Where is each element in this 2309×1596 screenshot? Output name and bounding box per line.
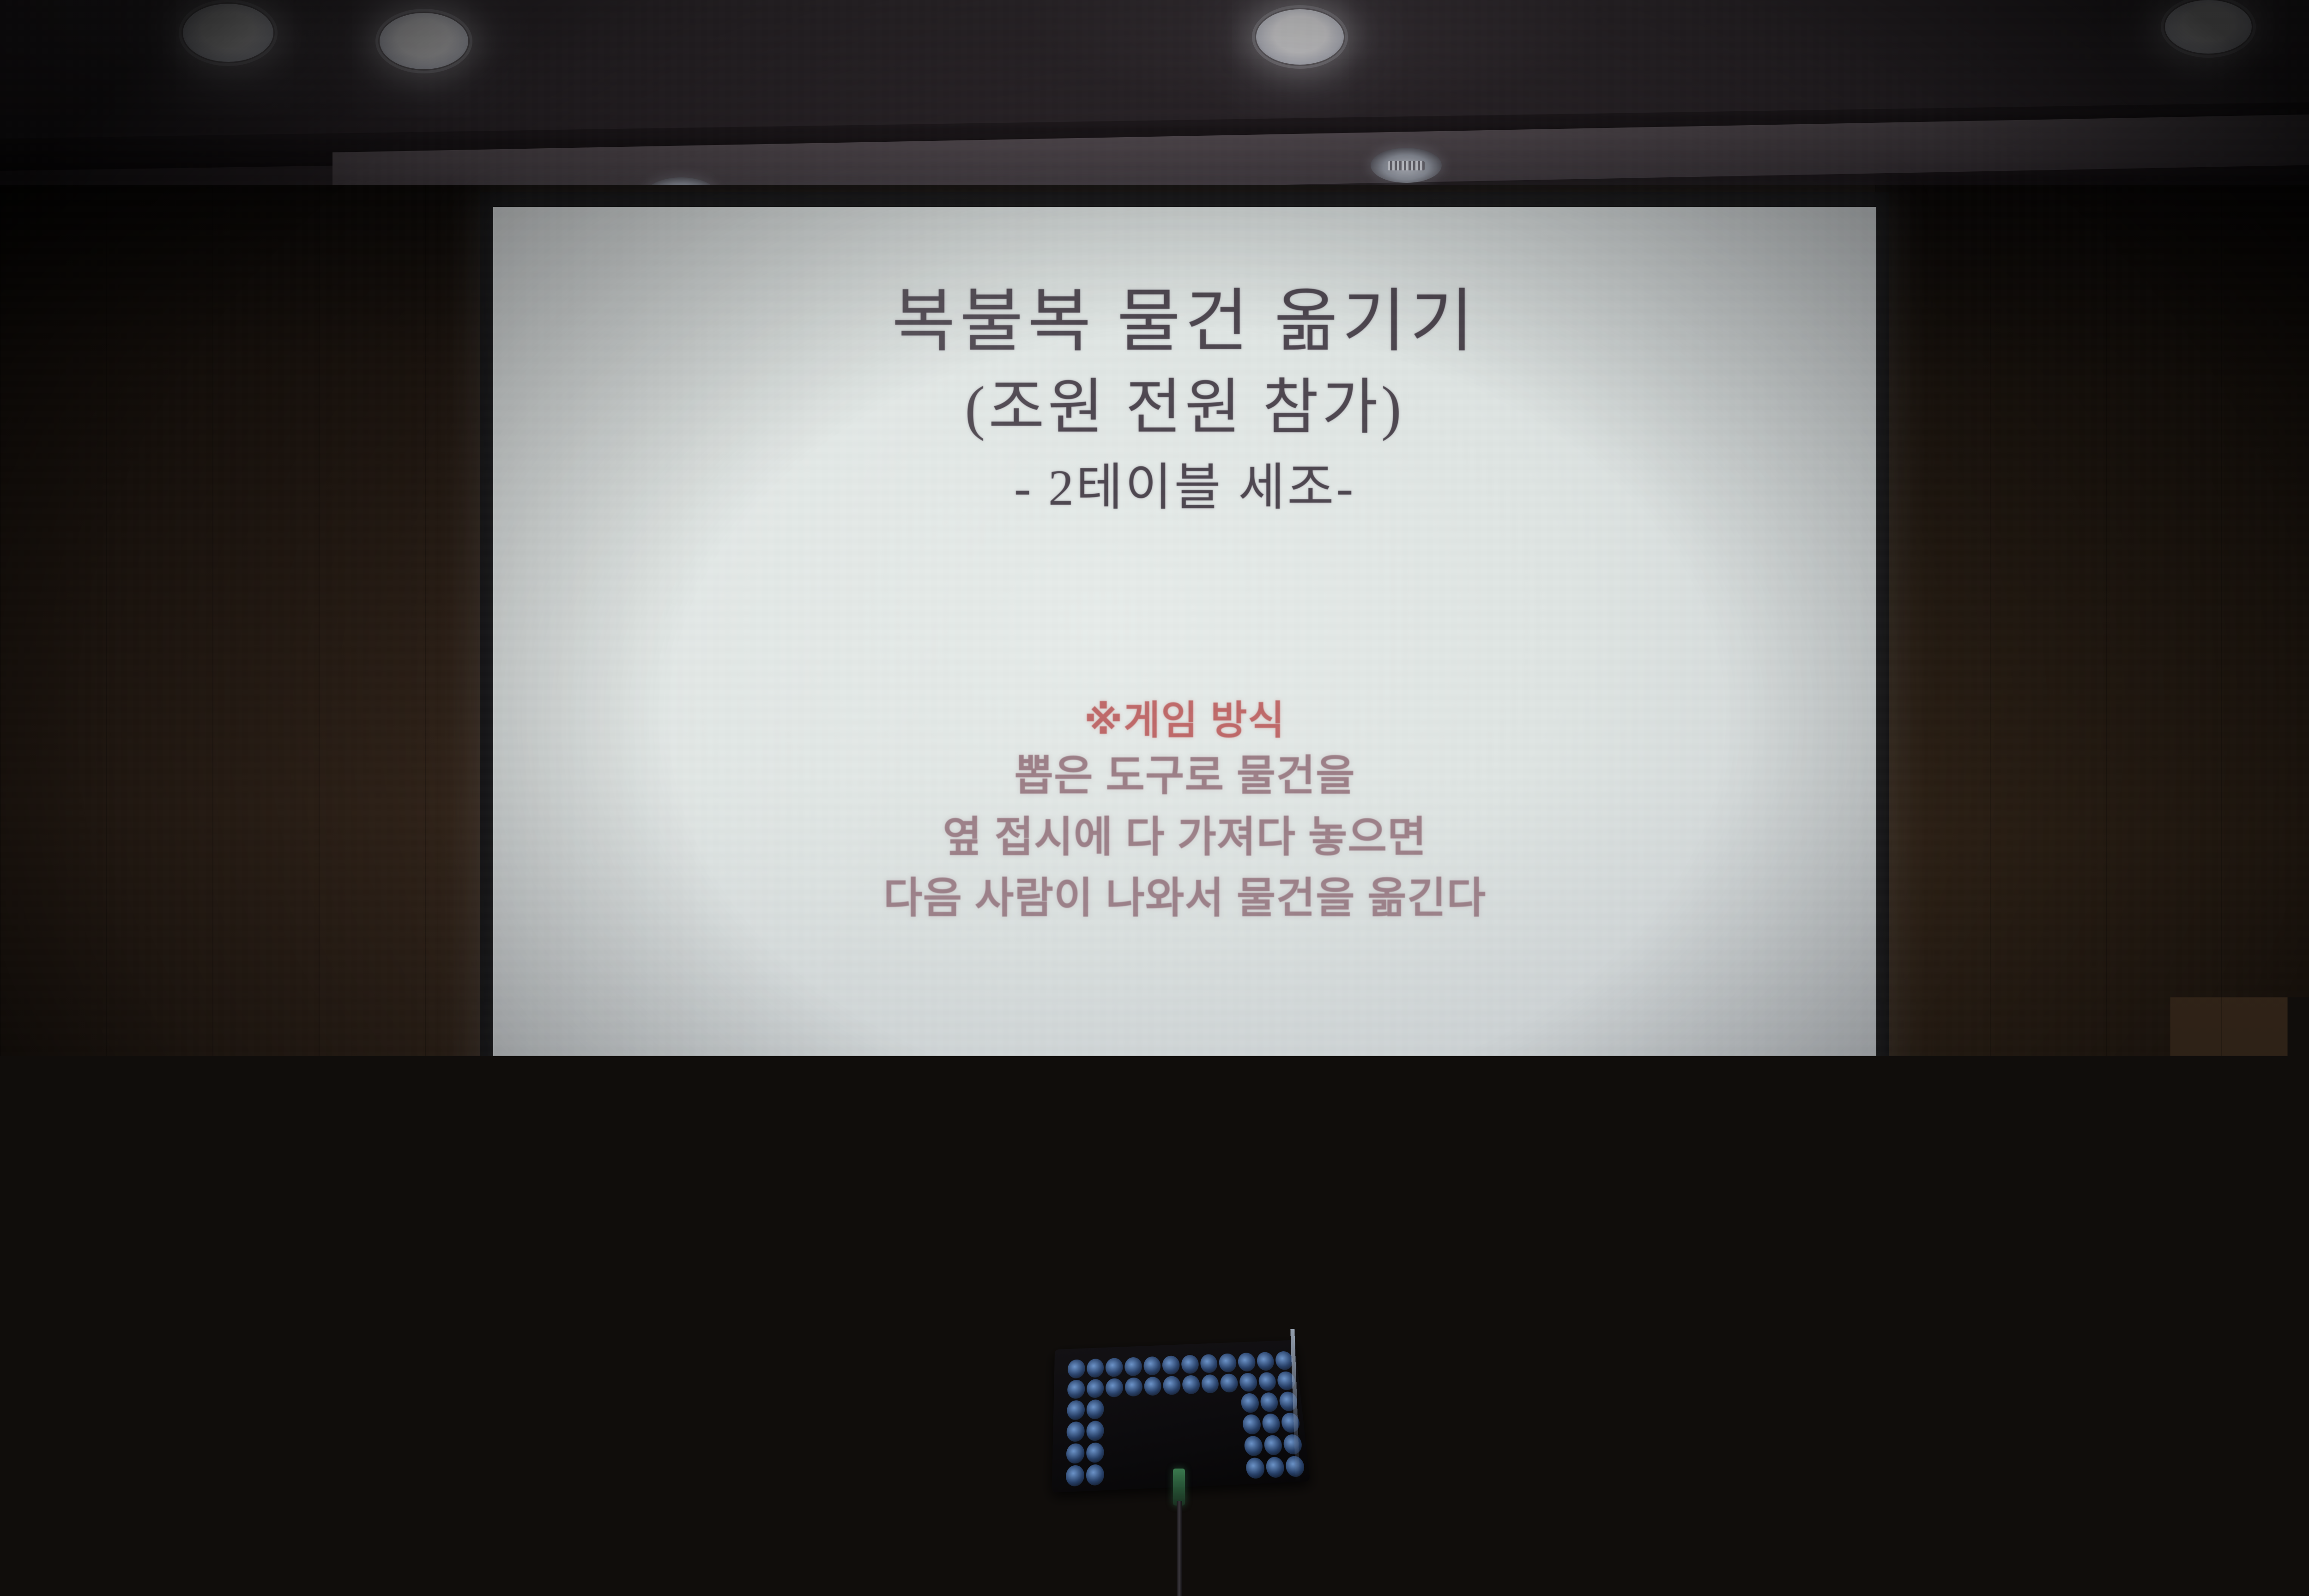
downlight-bulb xyxy=(2165,0,2252,54)
led-dot xyxy=(1204,1437,1223,1458)
led-dot xyxy=(1144,1397,1162,1417)
chair-leg xyxy=(1293,1473,1297,1596)
led-dot xyxy=(1165,1439,1184,1460)
hihat-rod xyxy=(323,1325,328,1596)
led-dot xyxy=(1066,1465,1084,1487)
led-dot xyxy=(1240,1393,1259,1413)
drum-hoop-top xyxy=(0,1311,171,1326)
led-dot xyxy=(1181,1354,1199,1374)
led-dot xyxy=(1066,1421,1084,1442)
led-dot xyxy=(1185,1438,1203,1459)
led-dot xyxy=(1146,1462,1165,1483)
led-dot xyxy=(1126,1440,1144,1462)
led-dot xyxy=(1162,1355,1180,1375)
guitar-fret xyxy=(553,1294,580,1300)
presentation-slide: 복불복 물건 옮기기 (조원 전원 참가) - 2테이블 세조- ※게임 방식 … xyxy=(493,207,1876,1237)
led-dot xyxy=(1201,1374,1219,1394)
led-dot xyxy=(1184,1416,1203,1437)
guitar-fret xyxy=(535,1396,562,1402)
slide-body-line: 옆 접시에 다 가져다 놓으면 xyxy=(883,807,1486,868)
led-dot xyxy=(1244,1435,1263,1456)
led-dot xyxy=(1106,1358,1123,1377)
led-dot xyxy=(1124,1357,1142,1376)
lyric-line xyxy=(1996,1505,2028,1511)
music-notes xyxy=(1994,1462,2038,1476)
led-dot xyxy=(1245,1457,1265,1479)
led-dot xyxy=(1086,1464,1104,1486)
led-dot xyxy=(1223,1415,1242,1435)
led-dot xyxy=(1262,1413,1281,1433)
led-dot xyxy=(1144,1376,1162,1396)
led-dot xyxy=(1202,1395,1221,1415)
drum-badge xyxy=(37,1409,88,1435)
led-dot xyxy=(1258,1372,1277,1391)
led-dot xyxy=(1256,1352,1275,1371)
drum-lug xyxy=(149,1335,158,1390)
led-dot xyxy=(1145,1418,1163,1439)
ceiling-downlight-icon xyxy=(380,13,468,69)
led-dot xyxy=(1067,1400,1085,1421)
songbook-page-left: 예배합니다 xyxy=(1977,1404,2140,1542)
led-dot xyxy=(1086,1421,1104,1441)
ceiling-downlight-icon xyxy=(2165,0,2252,54)
hihat-rod xyxy=(387,1432,392,1596)
led-dot xyxy=(1203,1415,1222,1436)
drum-lug xyxy=(24,1335,33,1390)
acoustic-guitar-soundhole xyxy=(462,1538,523,1593)
crash-cymbal xyxy=(65,1205,434,1261)
led-dot xyxy=(1206,1459,1225,1481)
led-dot xyxy=(1087,1378,1104,1398)
led-dot xyxy=(1220,1373,1239,1393)
downlight-bulb xyxy=(1256,9,1344,65)
led-dot xyxy=(1106,1398,1123,1419)
lyric-line xyxy=(1995,1477,2033,1484)
wall-panel-right xyxy=(1875,185,2309,1432)
led-dot xyxy=(1086,1442,1104,1463)
downlight-bulb xyxy=(183,4,273,62)
led-dot xyxy=(1106,1441,1124,1463)
led-dot xyxy=(1183,1396,1201,1416)
led-dot xyxy=(1106,1463,1124,1485)
led-music-stand-dot-grid xyxy=(1062,1348,1309,1490)
microphone-stand-pole xyxy=(1177,1501,1182,1596)
chair-backrest[interactable] xyxy=(1288,1422,1420,1535)
led-dot xyxy=(1226,1458,1245,1480)
microphone-clip xyxy=(1173,1469,1185,1505)
led-dot xyxy=(1182,1375,1200,1395)
guitar-fret xyxy=(548,1325,574,1331)
led-dot xyxy=(1200,1354,1218,1373)
led-dot xyxy=(1239,1372,1258,1392)
led-dot xyxy=(1260,1392,1279,1412)
led-dot xyxy=(1224,1436,1244,1457)
guitar-fret xyxy=(558,1266,585,1272)
drum-lug xyxy=(65,1335,74,1390)
slide-body-block: ※게임 방식 뽑은 도구로 물건을 옆 접시에 다 가져다 놓으면 다음 사람이… xyxy=(883,688,1486,929)
led-dot xyxy=(1087,1359,1104,1378)
led-dot xyxy=(1143,1356,1161,1376)
led-dot xyxy=(1164,1417,1183,1438)
guitar-fret xyxy=(528,1436,555,1442)
white-object xyxy=(1667,1514,1723,1531)
bass-drum xyxy=(0,1473,268,1596)
guitar-fret xyxy=(542,1359,568,1365)
led-dot xyxy=(1265,1457,1285,1478)
chair-leg xyxy=(1409,1450,1414,1596)
ceiling-downlight-icon xyxy=(1256,9,1344,65)
slide-section-heading: ※게임 방식 xyxy=(883,688,1486,745)
songbook-page-right: 주 아름에서 노래 xyxy=(2137,1397,2301,1530)
led-dot xyxy=(1067,1379,1085,1399)
bass-tuning-peg xyxy=(682,1234,703,1243)
led-dot xyxy=(1125,1377,1142,1397)
led-dot xyxy=(1164,1396,1182,1416)
led-dot xyxy=(1219,1353,1237,1372)
led-dot xyxy=(1237,1353,1256,1372)
projection-screen-weight-bar[interactable] xyxy=(455,1238,1930,1253)
photo-scene: 복불복 물건 옮기기 (조원 전원 참가) - 2테이블 세조- ※게임 방식 … xyxy=(0,0,2309,1596)
led-dot xyxy=(1068,1359,1085,1378)
slide-title-block: 복불복 물건 옮기기 (조원 전원 참가) - 2테이블 세조- xyxy=(892,276,1478,521)
slide-body-line: 다음 사람이 나와서 물건을 옮긴다 xyxy=(883,868,1486,929)
ceiling-vent-icon xyxy=(1371,148,1442,183)
slide-title-line-3: - 2테이블 세조- xyxy=(892,454,1478,521)
downlight-bulb xyxy=(380,13,468,69)
led-dot xyxy=(1086,1399,1104,1420)
red-object xyxy=(1607,1506,1676,1529)
led-dot xyxy=(1263,1435,1283,1456)
guitar-fret xyxy=(563,1239,590,1245)
slide-title-line-1: 복불복 물건 옮기기 xyxy=(892,276,1478,368)
slide-body-line: 뽑은 도구로 물건을 xyxy=(883,745,1486,806)
bass-tuning-peg xyxy=(680,1206,701,1215)
led-dot xyxy=(1126,1463,1144,1484)
led-dot xyxy=(1125,1398,1143,1418)
led-dot xyxy=(1145,1439,1164,1461)
led-dot xyxy=(1106,1420,1124,1440)
led-dot xyxy=(1186,1460,1205,1482)
open-songbook[interactable]: 예배합니다 주 아름에서 노래 xyxy=(1977,1395,2302,1547)
led-dot xyxy=(1242,1414,1262,1434)
music-notes xyxy=(1995,1490,2035,1505)
bass-tuning-peg xyxy=(678,1180,699,1190)
led-dot xyxy=(1066,1443,1085,1464)
drum-lug xyxy=(111,1335,120,1390)
led-dot xyxy=(1163,1376,1181,1396)
hihat-cymbal xyxy=(194,1381,499,1425)
projection-screen[interactable]: 복불복 물건 옮기기 (조원 전원 참가) - 2테이블 세조- ※게임 방식 … xyxy=(493,207,1876,1237)
slide-title-line-2: (조원 전원 참가) xyxy=(892,368,1478,448)
led-dot xyxy=(1125,1419,1143,1439)
led-dot xyxy=(1221,1394,1240,1414)
blue-object xyxy=(1579,1547,1709,1596)
ceiling-downlight-icon xyxy=(183,4,273,62)
led-dot xyxy=(1106,1378,1123,1398)
